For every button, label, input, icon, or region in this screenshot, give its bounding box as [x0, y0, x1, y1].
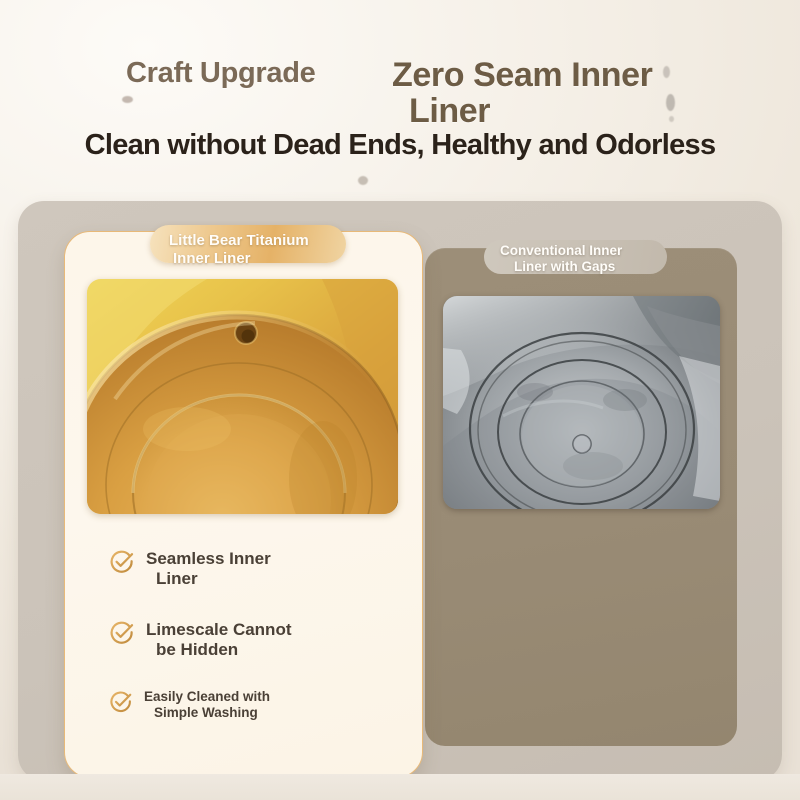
feature-item: Limescale Cannot be Hidden	[109, 620, 292, 659]
titanium-badge-line-2: Inner Liner	[169, 250, 346, 268]
circle-check-icon	[109, 620, 135, 651]
page-title-line-2: Liner	[392, 93, 722, 129]
feature-item: Seamless Inner Liner	[109, 549, 271, 588]
feature-text-line-1: Easily Cleaned with	[144, 689, 270, 704]
gold-titanium-liner-photo	[87, 279, 398, 514]
feature-text-line-1: Seamless Inner	[146, 549, 271, 568]
titanium-liner-badge: Little Bear Titanium Inner Liner	[150, 225, 346, 263]
bottom-fade	[0, 774, 800, 800]
conventional-liner-badge: Conventional Inner Liner with Gaps	[484, 240, 667, 274]
titanium-badge-line-1: Little Bear Titanium	[169, 232, 309, 249]
header: Craft Upgrade Zero Seam Inner Liner Clea…	[0, 0, 800, 180]
product-comparison-graphic: Craft Upgrade Zero Seam Inner Liner Clea…	[0, 0, 800, 800]
page-subtitle: Clean without Dead Ends, Healthy and Odo…	[0, 129, 800, 162]
conventional-badge-line-2: Liner with Gaps	[500, 259, 667, 275]
page-title-line-1: Zero Seam Inner	[392, 56, 652, 94]
feature-text-line-2: be Hidden	[146, 640, 292, 660]
feature-text: Limescale Cannot be Hidden	[146, 620, 292, 659]
feature-item: Easily Cleaned with Simple Washing	[109, 689, 270, 720]
stainless-steel-illustration	[443, 296, 720, 509]
gold-liner-illustration	[87, 279, 398, 514]
feature-text-line-2: Simple Washing	[144, 705, 270, 721]
background-speck	[358, 176, 368, 185]
titanium-liner-card: Seamless Inner Liner Limescale Cannot be…	[64, 231, 423, 778]
feature-text: Seamless Inner Liner	[146, 549, 271, 588]
stainless-steel-liner-photo	[443, 296, 720, 509]
circle-check-icon	[109, 549, 135, 580]
background-speck	[122, 96, 133, 103]
circle-check-icon	[109, 690, 133, 719]
page-title: Zero Seam Inner Liner	[392, 57, 722, 129]
feature-text: Easily Cleaned with Simple Washing	[144, 689, 270, 720]
eyebrow-heading: Craft Upgrade	[126, 57, 315, 90]
conventional-liner-card: Detachable Inner Liner with Large Gaps L…	[425, 248, 737, 746]
feature-text-line-2: Liner	[146, 569, 271, 589]
conventional-badge-line-1: Conventional Inner	[500, 243, 622, 258]
feature-text-line-1: Limescale Cannot	[146, 620, 292, 639]
